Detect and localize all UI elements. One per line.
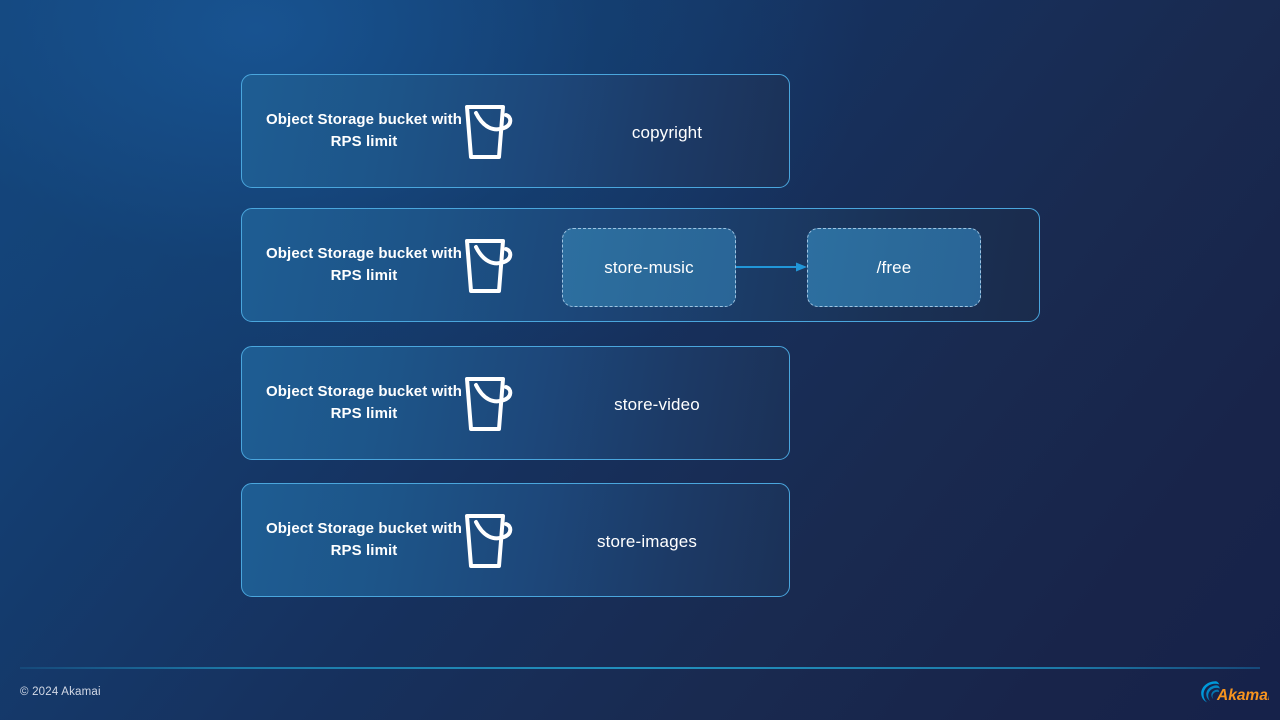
sub-box-label: store-music [604, 258, 694, 278]
footer-divider [20, 667, 1260, 669]
sub-box-store-music[interactable]: store-music [562, 228, 736, 307]
copyright-text: © 2024 Akamai [20, 686, 101, 698]
storage-card-2[interactable]: Object Storage bucket with RPS limit sto… [241, 208, 1040, 322]
sub-box-label: /free [877, 258, 912, 278]
bucket-icon [454, 228, 528, 302]
card-value-4: store-images [532, 532, 762, 552]
storage-card-4[interactable]: Object Storage bucket with RPS limit sto… [241, 483, 790, 597]
bucket-icon [454, 94, 528, 168]
akamai-logo: Akamai [1197, 679, 1269, 705]
storage-card-3[interactable]: Object Storage bucket with RPS limit sto… [241, 346, 790, 460]
storage-card-1[interactable]: Object Storage bucket with RPS limit cop… [241, 74, 790, 188]
arrow-right-icon [736, 260, 808, 274]
card-label: Object Storage bucket with RPS limit [264, 243, 464, 287]
card-value-3: store-video [542, 395, 772, 415]
bucket-icon [454, 366, 528, 440]
sub-box-free[interactable]: /free [807, 228, 981, 307]
slide-canvas: Object Storage bucket with RPS limit cop… [0, 0, 1280, 720]
card-value-1: copyright [552, 123, 782, 143]
card-label: Object Storage bucket with RPS limit [264, 109, 464, 153]
akamai-wordmark: Akamai [1216, 687, 1269, 704]
card-label: Object Storage bucket with RPS limit [264, 518, 464, 562]
card-label: Object Storage bucket with RPS limit [264, 381, 464, 425]
bucket-icon [454, 503, 528, 577]
